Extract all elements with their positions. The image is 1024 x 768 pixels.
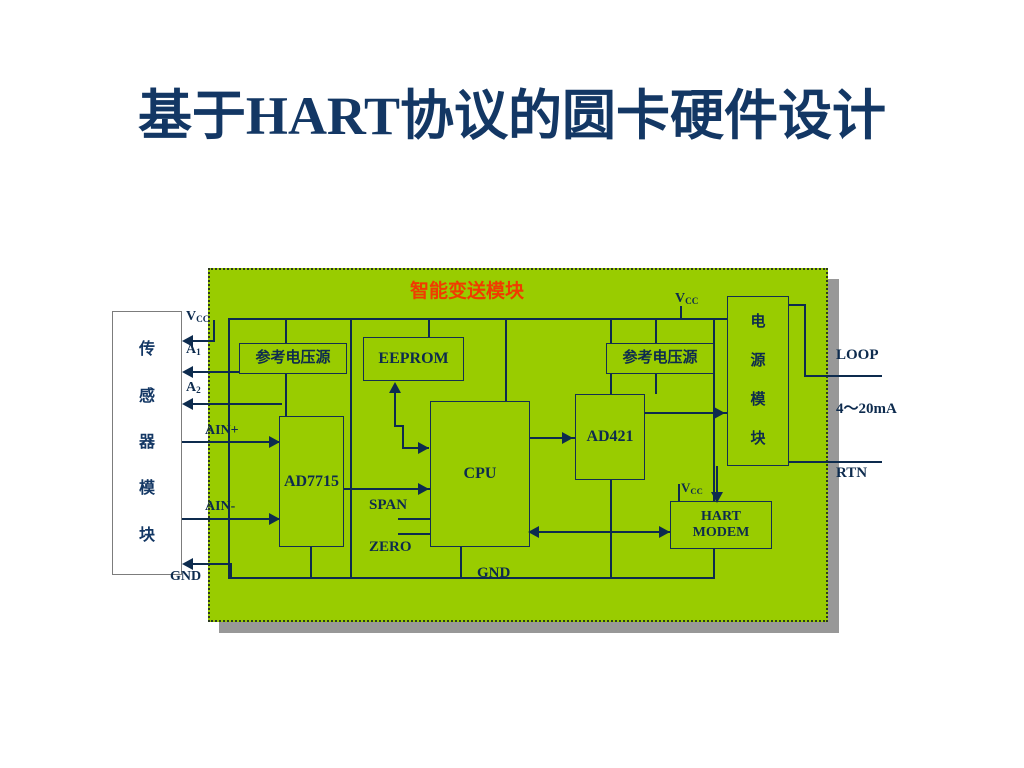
tap-gnd-eeprom-rail (350, 350, 352, 577)
sensor-char-0: 传 (139, 342, 155, 358)
arrow-modem-vcc-in (711, 492, 723, 503)
label-rtn: RTN (836, 466, 867, 481)
wire-cpu-modem-bus (530, 531, 670, 533)
power-module-char-3: 块 (750, 431, 765, 448)
arrow-ad421-in (562, 432, 573, 444)
wire-refright-down (655, 374, 657, 394)
wire-vcc-left-drop (213, 320, 215, 342)
wire-power-vcc-stub (680, 306, 682, 318)
hart-modem-line2: MODEM (693, 525, 750, 541)
wire-zero-stub (398, 533, 430, 535)
bus-vcc-top (228, 318, 715, 320)
label-vcc-modem: VCC (681, 481, 703, 495)
arrow-modem-from-cpu (659, 526, 670, 538)
arrow-a1 (182, 366, 193, 378)
power-module-char-0: 电 (750, 314, 765, 331)
arrow-cpu-from-modem (528, 526, 539, 538)
ad421-block: AD421 (575, 394, 645, 480)
label-gnd-bus: GND (477, 566, 510, 581)
wire-a2 (192, 403, 282, 405)
label-gnd-left: GND (170, 570, 201, 584)
wire-gnd-left-riser (230, 563, 232, 578)
bus-left-rail (228, 318, 230, 578)
wire-gnd-left (192, 563, 232, 565)
wire-loop-out (804, 375, 882, 377)
cpu-block: CPU (430, 401, 530, 547)
sensor-char-3: 模 (139, 481, 155, 497)
ref-voltage-right-block: 参考电压源 (606, 343, 714, 374)
sensor-module-block: 传 感 器 模 块 (112, 311, 182, 575)
wire-refleft-to-ad7715 (285, 374, 287, 416)
wire-ain-minus (182, 518, 281, 520)
tap-vcc-eeprom-left (350, 318, 352, 350)
tap-gnd-ad7715 (310, 546, 312, 577)
label-vcc-top-right: VCC (675, 292, 698, 306)
label-a1: A1 (186, 343, 201, 357)
label-span: SPAN (369, 498, 407, 513)
wire-cpu-to-eeprom (394, 393, 396, 427)
hart-modem-line1: HART (701, 509, 741, 525)
block-diagram: 智能变送模块 传 感 器 模 块 VCC (0, 0, 1024, 768)
arrow-cpu-in-top (418, 442, 429, 454)
label-a2: A2 (186, 381, 201, 395)
wire-rtn-out (789, 461, 882, 463)
hart-modem-block: HART MODEM (670, 501, 772, 549)
tap-gnd-modem (713, 548, 715, 577)
power-module-block: 电 源 模 块 (727, 296, 789, 466)
wire-loop-b (804, 304, 806, 377)
sensor-char-2: 器 (139, 435, 155, 451)
label-zero: ZERO (369, 540, 412, 555)
label-ain-minus: AIN- (205, 500, 235, 514)
wire-eeprom-elbow-b (402, 425, 404, 449)
bus-gnd-bottom (228, 577, 715, 579)
label-ain-plus: AIN+ (205, 424, 239, 438)
wire-power-vcc-top (680, 318, 727, 320)
arrow-cpu-in-mid (418, 483, 429, 495)
tap-gnd-cpu (460, 546, 462, 577)
arrow-power-in (714, 407, 725, 419)
power-module-char-1: 源 (750, 353, 765, 370)
wire-span-stub (398, 518, 430, 520)
eeprom-block: EEPROM (363, 337, 464, 381)
ad7715-block: AD7715 (279, 416, 344, 547)
slide-canvas: 基于HART协议的圆卡硬件设计 智能变送模块 传 感 器 模 块 (0, 0, 1024, 768)
panel-title-label: 智能变送模块 (410, 282, 524, 301)
label-loop: LOOP (836, 348, 879, 363)
wire-ain-plus (182, 441, 281, 443)
power-module-char-2: 模 (750, 392, 765, 409)
ref-voltage-left-block: 参考电压源 (239, 343, 347, 374)
tap-gnd-ad421 (610, 480, 612, 577)
sensor-char-4: 块 (139, 528, 155, 544)
label-current-range: 4～20mA (836, 402, 897, 417)
wire-modem-vcc-tick (678, 484, 680, 501)
label-vcc-left: VCC (186, 310, 209, 324)
arrow-a2 (182, 398, 193, 410)
arrow-eeprom-up (389, 382, 401, 393)
sensor-char-1: 感 (139, 389, 155, 405)
